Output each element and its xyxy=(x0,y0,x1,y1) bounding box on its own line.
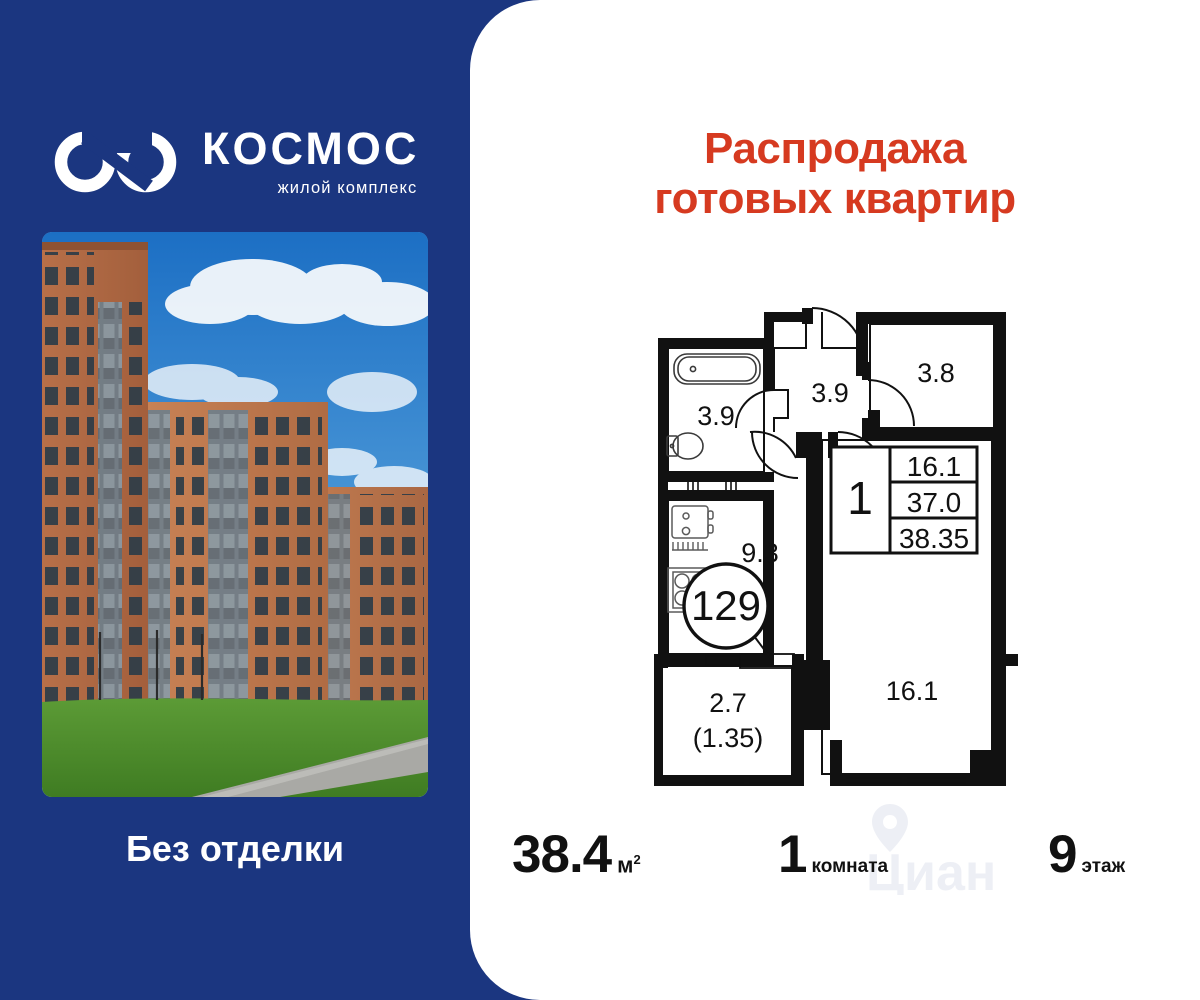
page-title: Распродажа готовых квартир xyxy=(470,124,1200,224)
brand-tagline: жилой комплекс xyxy=(202,179,419,198)
logo: КОСМОС жилой комплекс xyxy=(52,126,419,198)
bathtub-icon xyxy=(674,354,760,384)
finish-label: Без отделки xyxy=(126,828,344,870)
plan-info-box: 1 16.1 37.0 38.35 xyxy=(831,447,977,554)
spec-rooms-value: 1 xyxy=(778,824,806,885)
apartment-number: 129 xyxy=(691,582,761,629)
spec-floor-value: 9 xyxy=(1048,824,1076,885)
headline-line-1: Распродажа xyxy=(470,124,1200,174)
toilet-icon xyxy=(667,433,703,459)
info-area-without-balcony: 37.0 xyxy=(907,487,962,518)
building-photo-image xyxy=(42,232,428,797)
branding-column: КОСМОС жилой комплекс xyxy=(0,0,470,1000)
room-label-storage: 3.8 xyxy=(917,358,955,388)
room-label-balcony-coeff: (1.35) xyxy=(693,723,764,753)
room-label-bathroom: 3.9 xyxy=(697,401,735,431)
info-living-area: 16.1 xyxy=(907,451,962,482)
counter-icon xyxy=(672,542,708,550)
room-label-hallway: 3.9 xyxy=(811,378,849,408)
spec-area-value: 38.4 xyxy=(512,824,611,885)
headline-line-2: готовых квартир xyxy=(470,174,1200,224)
spec-floor: 9 этаж xyxy=(1048,824,1125,885)
room-label-kitchen: 9.3 xyxy=(741,538,779,568)
sink-icon xyxy=(672,506,713,538)
info-total-area: 38.35 xyxy=(899,523,969,554)
spec-rooms: 1 комната xyxy=(778,824,888,885)
spec-area-unit: м2 xyxy=(617,852,641,878)
spec-rooms-unit: комната xyxy=(811,856,888,878)
infinity-icon xyxy=(52,131,182,193)
spec-area: 38.4 м2 xyxy=(512,824,641,885)
room-label-living: 16.1 xyxy=(886,676,939,706)
brand-name: КОСМОС xyxy=(202,126,419,171)
info-rooms: 1 xyxy=(847,472,873,524)
wall-hatch xyxy=(688,482,736,490)
floor-plan: 3.9 3.9 3.8 9.3 16.1 2.7 (1.35) 129 1 16… xyxy=(640,250,1020,795)
apartment-number-badge: 129 xyxy=(684,564,772,660)
spec-floor-unit: этаж xyxy=(1081,856,1125,878)
floor-plan-drawing: 3.9 3.9 3.8 9.3 16.1 2.7 (1.35) 129 1 16… xyxy=(640,250,1020,795)
room-label-balcony: 2.7 xyxy=(709,688,747,718)
building-photo xyxy=(42,232,428,797)
specs-row: 38.4 м2 1 комната 9 этаж xyxy=(470,818,1200,898)
